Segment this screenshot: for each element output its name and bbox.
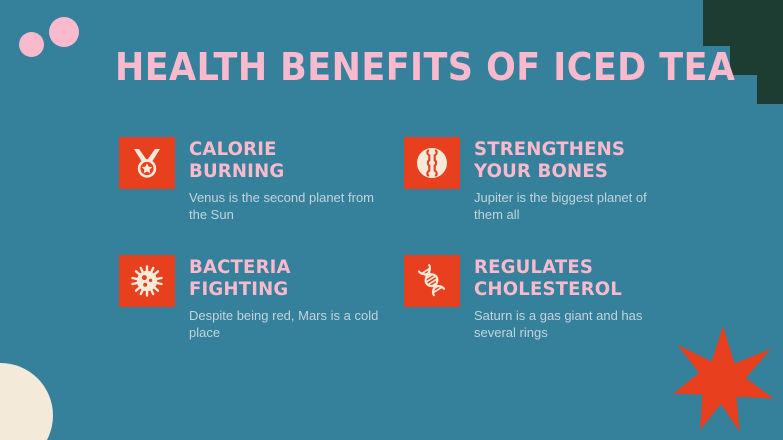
icon-tile-dna (404, 255, 460, 307)
feature-text-block: REGULATES CHOLESTEROL Saturn is a gas gi… (474, 255, 664, 341)
feature-description: Jupiter is the biggest planet of them al… (474, 189, 664, 223)
pink-dot-small-icon (19, 32, 44, 57)
feature-description: Saturn is a gas giant and has several ri… (474, 307, 664, 341)
feature-item-regulates-cholesterol: REGULATES CHOLESTEROL Saturn is a gas gi… (404, 255, 684, 341)
feature-text-block: BACTERIA FIGHTING Despite being red, Mar… (189, 255, 379, 341)
feature-item-calorie-burning: CALORIE BURNING Venus is the second plan… (119, 137, 399, 223)
feature-title: REGULATES CHOLESTEROL (474, 256, 655, 300)
feature-title: STRENGTHENS YOUR BONES (474, 138, 655, 182)
page-title: HEALTH BENEFITS OF ICED TEA (115, 44, 735, 90)
feature-text-block: STRENGTHENS YOUR BONES Jupiter is the bi… (474, 137, 664, 223)
cream-circle-icon (0, 363, 53, 440)
icon-tile-bacteria (119, 255, 175, 307)
icon-tile-medal (119, 137, 175, 189)
medal-icon (130, 147, 164, 179)
feature-item-bacteria-fighting: BACTERIA FIGHTING Despite being red, Mar… (119, 255, 399, 341)
bone-joint-icon (415, 146, 449, 180)
slide-canvas: HEALTH BENEFITS OF ICED TEA CALORIE BURN… (0, 0, 783, 440)
bacteria-icon (131, 265, 163, 297)
feature-text-block: CALORIE BURNING Venus is the second plan… (189, 137, 379, 223)
icon-tile-bone-joint (404, 137, 460, 189)
feature-title: CALORIE BURNING (189, 138, 370, 182)
dna-icon (416, 264, 448, 298)
feature-item-strengthens-your-bones: STRENGTHENS YOUR BONES Jupiter is the bi… (404, 137, 684, 223)
pink-dot-large-icon (49, 17, 79, 47)
feature-description: Venus is the second planet from the Sun (189, 189, 379, 223)
feature-title: BACTERIA FIGHTING (189, 256, 370, 300)
feature-description: Despite being red, Mars is a cold place (189, 307, 379, 341)
features-grid: CALORIE BURNING Venus is the second plan… (119, 137, 689, 341)
